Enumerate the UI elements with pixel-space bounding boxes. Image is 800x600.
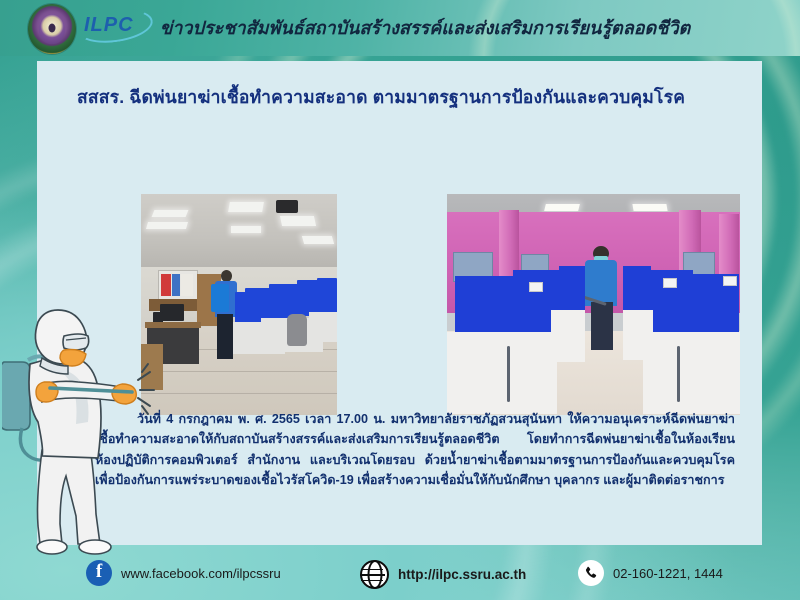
ilpc-swoosh-icon bbox=[75, 5, 155, 47]
desk-partition bbox=[317, 278, 337, 314]
header-title: ข่าวประชาสัมพันธ์สถาบันสร้างสรรค์และส่งเ… bbox=[160, 13, 690, 42]
header-band: ILPC ข่าวประชาสัมพันธ์สถาบันสร้างสรรค์แล… bbox=[0, 0, 800, 56]
backpack-sprayer bbox=[211, 284, 229, 312]
phone-icon bbox=[578, 560, 604, 586]
desk-base bbox=[643, 332, 740, 414]
desk-partition bbox=[455, 276, 513, 334]
ceiling-light bbox=[632, 204, 667, 211]
emblem-center-dot bbox=[49, 24, 56, 33]
hazmat-worker-spraying bbox=[2, 300, 162, 562]
floor-line bbox=[141, 371, 337, 372]
power-cable bbox=[507, 346, 510, 402]
desk-partition bbox=[559, 266, 585, 312]
wall-shelf-books bbox=[181, 274, 193, 296]
desk-base bbox=[551, 310, 585, 362]
facebook-url-label: www.facebook.com/ilpcssru bbox=[121, 566, 281, 581]
power-cable bbox=[677, 346, 680, 402]
worker-legs bbox=[591, 302, 613, 350]
desk-base bbox=[447, 332, 557, 414]
partition-label bbox=[663, 278, 677, 288]
office-chair bbox=[287, 314, 307, 346]
wall-shelf-books bbox=[161, 274, 171, 296]
desk-base bbox=[309, 312, 337, 342]
photo-computer-lab-spraying bbox=[141, 194, 337, 415]
ceiling-light bbox=[228, 202, 264, 212]
poster-root: ILPC ข่าวประชาสัมพันธ์สถาบันสร้างสรรค์แล… bbox=[0, 0, 800, 600]
partition-label bbox=[529, 282, 543, 292]
desktop-monitor bbox=[160, 304, 184, 321]
hazmat-worker-svg bbox=[2, 300, 162, 562]
ceiling-light bbox=[280, 216, 316, 226]
ceiling-light bbox=[302, 236, 334, 244]
footer-bar: www.facebook.com/ilpcssru http://ilpc.ss… bbox=[0, 548, 800, 600]
partition-label bbox=[723, 276, 737, 286]
ceiling-light bbox=[152, 210, 189, 217]
footer-facebook[interactable]: www.facebook.com/ilpcssru bbox=[86, 560, 281, 586]
photo-pink-room-spraying bbox=[447, 194, 740, 415]
website-url-label: http://ilpc.ssru.ac.th bbox=[398, 567, 526, 582]
floor-line bbox=[141, 393, 337, 394]
article-body: วันที่ 4 กรกฎาคม พ. ศ. 2565 เวลา 17.00 น… bbox=[95, 409, 735, 491]
phone-number-label: 02-160-1221, 1444 bbox=[613, 566, 723, 581]
ceiling-light bbox=[231, 226, 261, 233]
ceiling-light bbox=[544, 204, 580, 211]
article-paragraph: วันที่ 4 กรกฎาคม พ. ศ. 2565 เวลา 17.00 น… bbox=[95, 409, 735, 491]
wall-shelf-books bbox=[172, 274, 180, 296]
footer-website[interactable]: http://ilpc.ssru.ac.th bbox=[360, 560, 526, 589]
facebook-icon bbox=[86, 560, 112, 586]
footer-phone[interactable]: 02-160-1221, 1444 bbox=[578, 560, 723, 586]
worker-legs bbox=[217, 314, 233, 359]
globe-icon bbox=[360, 560, 389, 589]
ssru-emblem-logo bbox=[28, 4, 76, 54]
ceiling-projector bbox=[276, 200, 298, 213]
ceiling-light bbox=[146, 222, 188, 229]
page-title: สสสร. ฉีดพ่นยาฆ่าเชื้อทำความสะอาด ตามมาต… bbox=[77, 83, 737, 111]
ilpc-wordmark: ILPC bbox=[84, 14, 134, 37]
